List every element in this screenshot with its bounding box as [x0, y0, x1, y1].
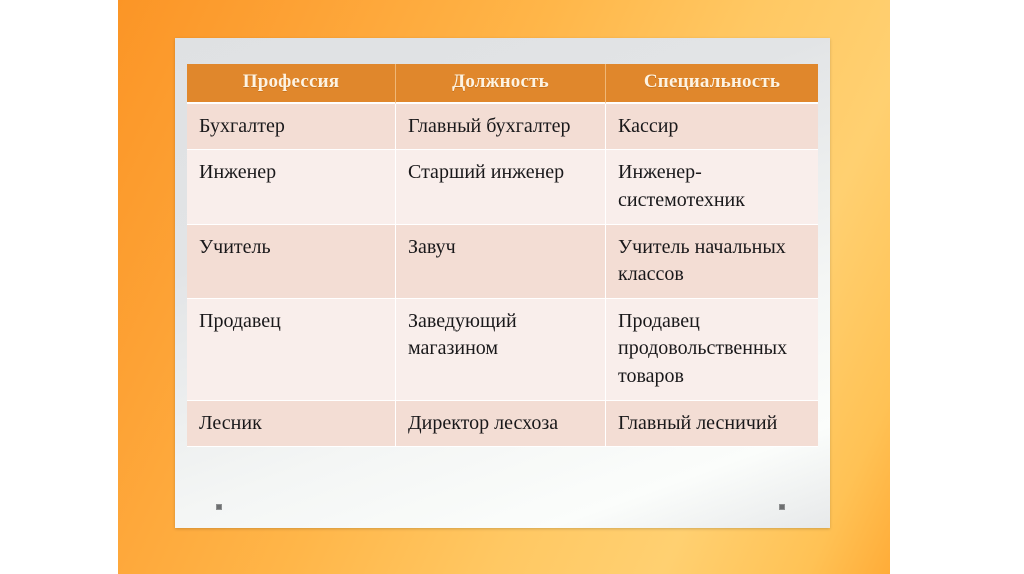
- table-row[interactable]: Учитель Завуч Учитель начальных классов: [187, 225, 818, 299]
- resize-handle-left[interactable]: [216, 504, 222, 510]
- cell-profession: Лесник: [187, 401, 396, 448]
- profession-table: Профессия Должность Специальность Бухгал…: [187, 64, 818, 447]
- cell-profession: Инженер: [187, 150, 396, 224]
- profession-table-container[interactable]: Профессия Должность Специальность Бухгал…: [187, 64, 818, 447]
- cell-position: Старший инженер: [396, 150, 606, 224]
- column-header-position[interactable]: Должность: [396, 64, 606, 104]
- cell-position: Завуч: [396, 225, 606, 299]
- table-body: Бухгалтер Главный бухгалтер Кассир Инжен…: [187, 104, 818, 447]
- cell-specialty: Главный лесничий: [606, 401, 818, 448]
- column-header-profession[interactable]: Профессия: [187, 64, 396, 104]
- cell-position: Главный бухгалтер: [396, 104, 606, 151]
- table-row[interactable]: Лесник Директор лесхоза Главный лесничий: [187, 401, 818, 448]
- cell-specialty: Продавец продовольственных товаров: [606, 299, 818, 401]
- table-header: Профессия Должность Специальность: [187, 64, 818, 104]
- cell-position: Директор лесхоза: [396, 401, 606, 448]
- slide-stage: Профессия Должность Специальность Бухгал…: [0, 0, 1024, 574]
- cell-profession: Бухгалтер: [187, 104, 396, 151]
- content-panel: Профессия Должность Специальность Бухгал…: [175, 38, 830, 528]
- cell-specialty: Кассир: [606, 104, 818, 151]
- table-row[interactable]: Бухгалтер Главный бухгалтер Кассир: [187, 104, 818, 151]
- table-header-row: Профессия Должность Специальность: [187, 64, 818, 104]
- column-header-specialty[interactable]: Специальность: [606, 64, 818, 104]
- cell-profession: Учитель: [187, 225, 396, 299]
- resize-handle-right[interactable]: [779, 504, 785, 510]
- cell-specialty: Инженер-системотехник: [606, 150, 818, 224]
- table-row[interactable]: Инженер Старший инженер Инженер-системот…: [187, 150, 818, 224]
- cell-specialty: Учитель начальных классов: [606, 225, 818, 299]
- cell-position: Заведующий магазином: [396, 299, 606, 401]
- table-row[interactable]: Продавец Заведующий магазином Продавец п…: [187, 299, 818, 401]
- cell-profession: Продавец: [187, 299, 396, 401]
